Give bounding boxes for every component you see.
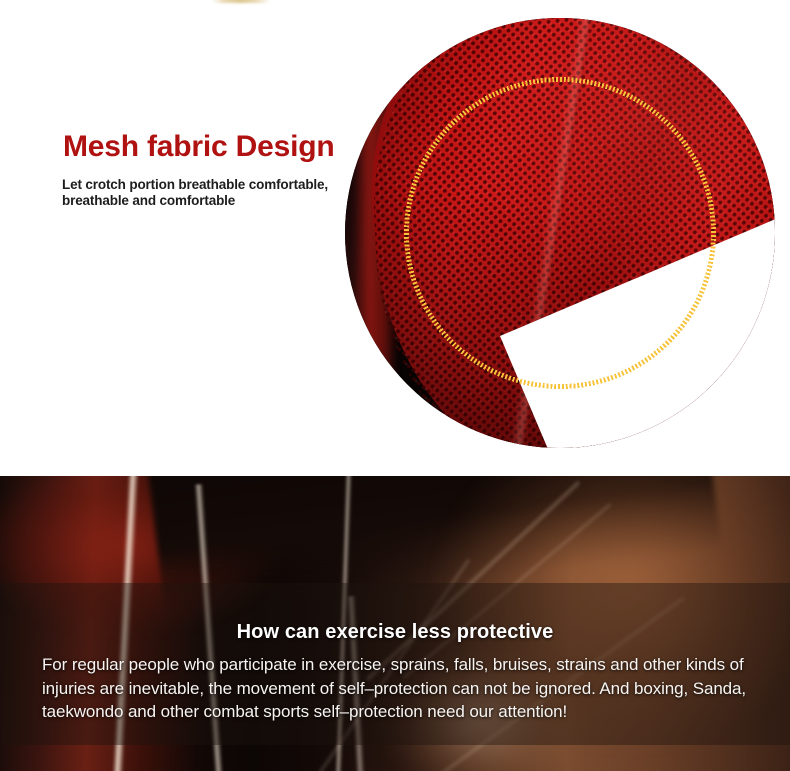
cropped-top-remnant bbox=[212, 0, 270, 3]
section-heading: How can exercise less protective bbox=[0, 621, 790, 644]
promo-page: Mesh fabric Design Let crotch portion br… bbox=[0, 0, 790, 771]
circle-photo-clip bbox=[345, 18, 775, 448]
mesh-fabric-section: Mesh fabric Design Let crotch portion br… bbox=[0, 0, 790, 476]
section-body-text: For regular people who participate in ex… bbox=[42, 653, 760, 724]
subtitle-text: Let crotch portion breathable comfortabl… bbox=[62, 177, 342, 210]
page-title: Mesh fabric Design bbox=[63, 130, 334, 164]
mesh-fabric-photo bbox=[345, 18, 775, 448]
